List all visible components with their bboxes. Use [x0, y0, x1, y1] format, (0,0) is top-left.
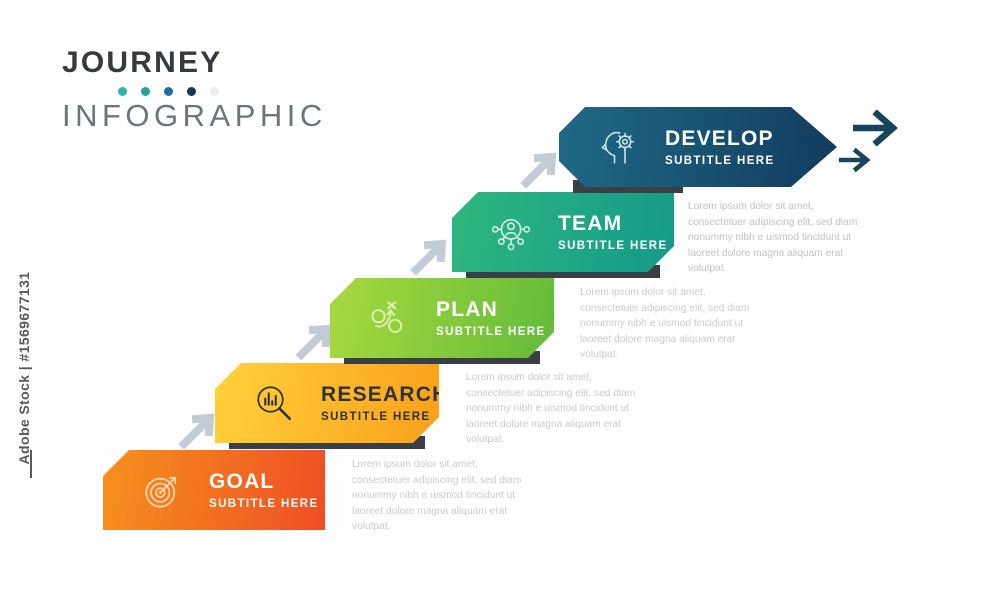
- step-research-description: Lorem ipsum dolor sit amet, consectetuer…: [466, 370, 652, 448]
- watermark-bar: [30, 450, 32, 478]
- network-person-icon: [482, 203, 540, 261]
- magnifier-chart-icon: [245, 374, 303, 432]
- step-research-bar[interactable]: RESEARCH SUBTITLE HERE: [215, 363, 439, 443]
- step-team[interactable]: TEAM SUBTITLE HERE: [452, 192, 674, 272]
- step-research-text: RESEARCH SUBTITLE HERE: [321, 383, 448, 422]
- step-goal-description: Lorem ipsum dolor sit amet, consectetuer…: [352, 457, 538, 535]
- step-team-subtitle: SUBTITLE HERE: [558, 240, 668, 252]
- target-dart-icon: [133, 461, 191, 519]
- arrow-right-large-icon: [853, 108, 899, 148]
- step-develop-bar[interactable]: DEVELOP SUBTITLE HERE: [559, 107, 837, 187]
- title-dot-4: [187, 87, 196, 96]
- connector-arrow-goal-research: [176, 408, 220, 452]
- step-goal-subtitle: SUBTITLE HERE: [209, 498, 319, 510]
- step-plan[interactable]: PLAN SUBTITLE HERE: [330, 278, 554, 358]
- step-plan-text: PLAN SUBTITLE HERE: [436, 298, 546, 337]
- step-develop-text: DEVELOP SUBTITLE HERE: [665, 127, 775, 166]
- title-block: JOURNEY INFOGRAPHIC: [62, 48, 362, 131]
- page-subtitle: INFOGRAPHIC: [62, 100, 362, 131]
- step-goal-title: GOAL: [209, 470, 319, 493]
- strategy-icon: [360, 289, 418, 347]
- step-plan-title: PLAN: [436, 298, 546, 321]
- page-title: JOURNEY: [62, 48, 362, 78]
- step-team-title: TEAM: [558, 212, 668, 235]
- title-dot-1: [118, 87, 127, 96]
- step-goal[interactable]: GOAL SUBTITLE HERE: [103, 450, 325, 530]
- step-plan-subtitle: SUBTITLE HERE: [436, 326, 546, 338]
- step-goal-bar[interactable]: GOAL SUBTITLE HERE: [103, 450, 325, 530]
- title-dot-3: [164, 87, 173, 96]
- step-team-bar[interactable]: TEAM SUBTITLE HERE: [452, 192, 674, 272]
- step-develop[interactable]: DEVELOP SUBTITLE HERE: [559, 107, 837, 187]
- watermark-text: Adobe Stock | #1569677131: [16, 258, 32, 478]
- step-plan-description: Lorem ipsum dolor sit amet, consectetuer…: [580, 285, 766, 363]
- step-goal-text: GOAL SUBTITLE HERE: [209, 470, 319, 509]
- title-dot-2: [141, 87, 150, 96]
- step-team-text: TEAM SUBTITLE HERE: [558, 212, 668, 251]
- step-develop-title: DEVELOP: [665, 127, 775, 150]
- title-dot-5: [210, 87, 219, 96]
- step-develop-subtitle: SUBTITLE HERE: [665, 155, 775, 167]
- step-research-subtitle: SUBTITLE HERE: [321, 411, 448, 423]
- arrow-right-small-icon: [839, 146, 871, 174]
- step-develop-description-visible: Lorem ipsum dolor sit amet, consectetuer…: [688, 199, 874, 277]
- step-research[interactable]: RESEARCH SUBTITLE HERE: [215, 363, 439, 443]
- title-dot-row: [118, 87, 362, 96]
- connector-arrow-plan-team: [408, 234, 452, 278]
- step-research-title: RESEARCH: [321, 383, 448, 406]
- infographic-canvas: JOURNEY INFOGRAPHIC: [0, 0, 1000, 608]
- step-plan-bar[interactable]: PLAN SUBTITLE HERE: [330, 278, 554, 358]
- connector-arrow-team-develop: [518, 147, 562, 191]
- head-gear-icon: [589, 118, 647, 176]
